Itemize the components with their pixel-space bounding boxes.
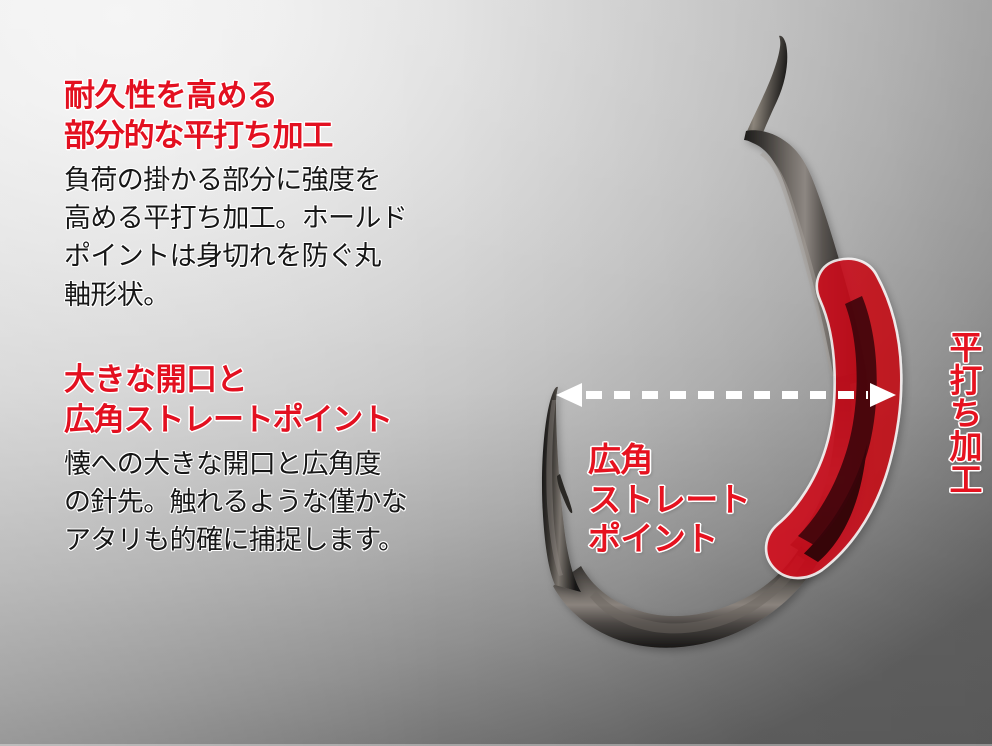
headline-durability-line1: 耐久性を高める — [64, 76, 516, 116]
callout-flat-forged-section: 平打ち加工 — [945, 330, 980, 495]
headline-durability-line2: 部分的な平打ち加工 — [64, 116, 516, 156]
arrow-head-left — [556, 383, 582, 407]
headline-durability: 耐久性を高める 部分的な平打ち加工 — [64, 76, 516, 157]
copy-block-gape: 大きな開口と 広角ストレートポイント 懐への大きな開口と広角度 の針先。触れるよ… — [64, 360, 516, 560]
body-gape-line1: 懐への大きな開口と広角度 — [64, 445, 516, 483]
body-gape: 懐への大きな開口と広角度 の針先。触れるような僅かな アタリも的確に捕捉します。 — [64, 445, 516, 560]
callout-point-line3: ポイント — [588, 519, 750, 559]
measure-arrow — [556, 380, 896, 412]
arrow-head-right — [870, 383, 896, 407]
callout-point-line1: 広角 — [588, 440, 750, 480]
body-durability-line1: 負荷の掛かる部分に強度を — [64, 161, 516, 199]
body-durability-line3: ポイントは身切れを防ぐ丸 — [64, 237, 516, 275]
copy-block-durability: 耐久性を高める 部分的な平打ち加工 負荷の掛かる部分に強度を 高める平打ち加工。… — [64, 76, 516, 314]
body-gape-line2: の針先。触れるような僅かな — [64, 483, 516, 521]
body-durability: 負荷の掛かる部分に強度を 高める平打ち加工。ホールド ポイントは身切れを防ぐ丸 … — [64, 161, 516, 314]
body-durability-line4: 軸形状。 — [64, 276, 516, 314]
body-gape-line3: アタリも的確に捕捉します。 — [64, 521, 516, 559]
headline-gape: 大きな開口と 広角ストレートポイント — [64, 360, 516, 441]
callout-wide-angle-straight-point: 広角 ストレート ポイント — [588, 440, 750, 559]
body-durability-line2: 高める平打ち加工。ホールド — [64, 199, 516, 237]
callout-point-line2: ストレート — [588, 480, 750, 520]
hook-feature-graphic: 耐久性を高める 部分的な平打ち加工 負荷の掛かる部分に強度を 高める平打ち加工。… — [0, 0, 992, 746]
headline-gape-line1: 大きな開口と — [64, 360, 516, 400]
headline-gape-line2: 広角ストレートポイント — [64, 400, 516, 440]
copy-column: 耐久性を高める 部分的な平打ち加工 負荷の掛かる部分に強度を 高める平打ち加工。… — [64, 76, 516, 559]
